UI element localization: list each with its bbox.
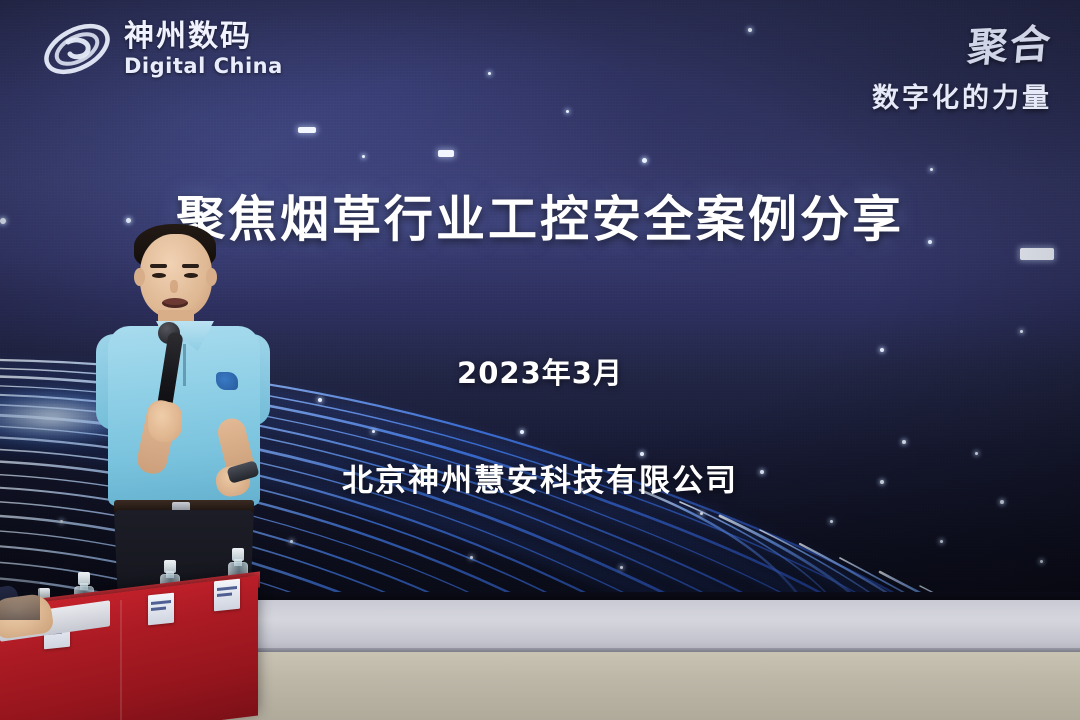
event-slogan: 聚合 数字化的力量 — [872, 16, 1052, 115]
conference-photo: 神州数码 Digital China 聚合 数字化的力量 聚焦烟草行业工控安全案… — [0, 0, 1080, 720]
shirt-logo-icon — [216, 372, 238, 390]
shirt-placket — [183, 344, 186, 386]
digital-china-swirl-icon — [40, 18, 114, 80]
presenter-hand-left — [148, 402, 182, 442]
presenter — [96, 222, 281, 622]
presenter-ear-right — [206, 268, 217, 286]
brand-name-cn: 神州数码 — [124, 22, 283, 52]
presenter-eye-right — [184, 273, 198, 278]
table-drape-fold — [120, 600, 122, 720]
presenter-nose — [170, 280, 178, 293]
presenter-mouth — [162, 298, 188, 308]
name-card — [214, 579, 240, 612]
slogan-subline: 数字化的力量 — [872, 76, 1052, 115]
slogan-headline: 聚合 — [869, 11, 1055, 78]
name-card — [148, 593, 174, 626]
brand-logo: 神州数码 Digital China — [40, 18, 283, 80]
presenter-brow-right — [182, 264, 199, 268]
presenter-eye-left — [152, 273, 166, 278]
presenter-ear-left — [134, 268, 145, 286]
foreground-shadow — [0, 560, 40, 620]
brand-name-en: Digital China — [124, 56, 283, 77]
presenter-brow-left — [150, 264, 167, 268]
